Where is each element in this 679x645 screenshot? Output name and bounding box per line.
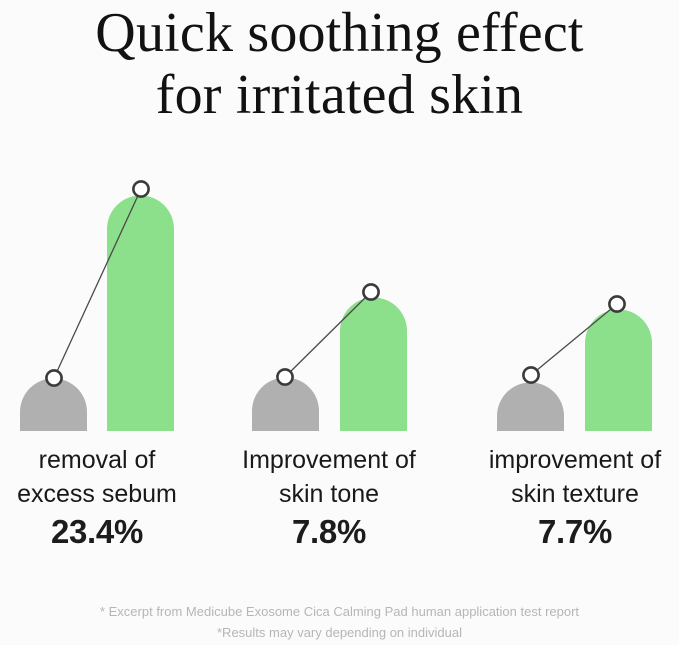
group-value-2: 7.8% [199,512,459,552]
marker-before-group-2 [277,369,292,384]
group-label-3: improvement of skin texture [445,443,679,511]
group-label-1-line-1: removal of [0,443,227,477]
marker-before-group-1 [46,370,61,385]
footnote-line-1: * Excerpt from Medicube Exosome Cica Cal… [0,601,679,622]
group-label-3-line-1: improvement of [445,443,679,477]
group-label-1: removal of excess sebum [0,443,227,511]
group-label-3-line-2: skin texture [445,477,679,511]
bar-before-group-3 [497,383,564,432]
group-value-1: 23.4% [0,512,227,552]
group-label-2-line-1: Improvement of [199,443,459,477]
footnote-line-2: *Results may vary depending on individua… [0,622,679,643]
group-value-3: 7.7% [445,512,679,552]
marker-after-group-1 [133,181,148,196]
footnotes: * Excerpt from Medicube Exosome Cica Cal… [0,601,679,643]
promotional-chart-page: Quick soothing effect for irritated skin [0,0,679,645]
group-label-2: Improvement of skin tone [199,443,459,511]
marker-before-group-3 [523,367,538,382]
marker-after-group-3 [609,296,624,311]
bar-after-group-2 [340,298,407,432]
bar-after-group-1 [107,196,174,432]
group-label-1-line-2: excess sebum [0,477,227,511]
group-label-2-line-2: skin tone [199,477,459,511]
bar-after-group-3 [585,310,652,432]
marker-after-group-2 [363,284,378,299]
